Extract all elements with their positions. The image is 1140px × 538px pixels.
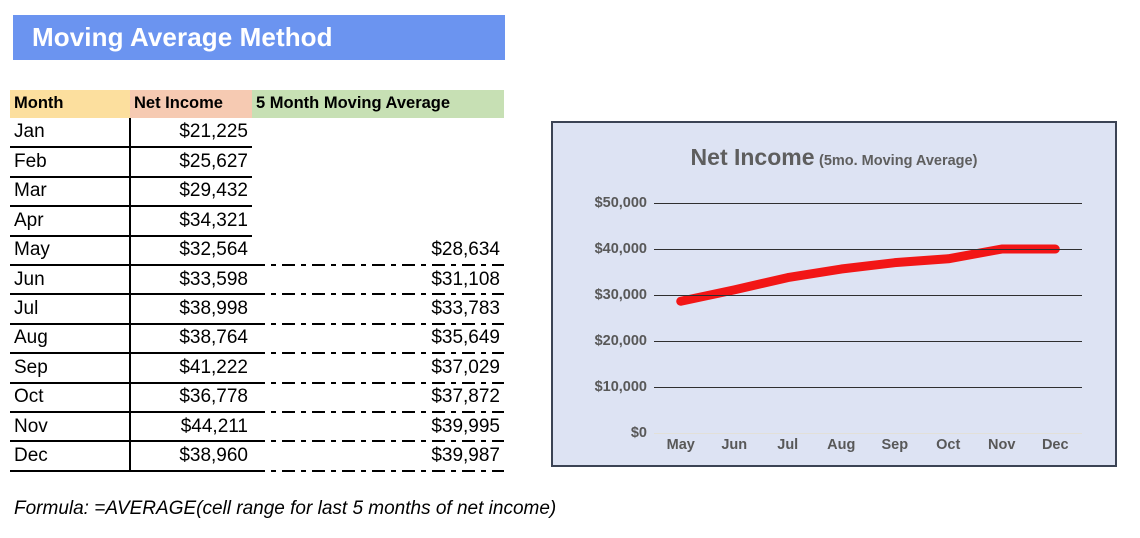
gridline [654, 341, 1082, 342]
table-body: Jan$21,225Feb$25,627Mar$29,432Apr$34,321… [10, 118, 504, 471]
cell-moving-average: $37,029 [252, 353, 504, 382]
table-row: May$32,564$28,634 [10, 236, 504, 265]
cell-month: Jan [10, 118, 130, 147]
series-polyline [681, 249, 1056, 301]
chart-title: Net Income (5mo. Moving Average) [553, 144, 1115, 171]
formula-note: Formula: =AVERAGE(cell range for last 5 … [14, 498, 556, 520]
cell-month: Feb [10, 147, 130, 176]
cell-net-income: $21,225 [130, 118, 252, 147]
cell-net-income: $41,222 [130, 353, 252, 382]
cell-net-income: $33,598 [130, 265, 252, 294]
chart-title-main: Net Income [691, 144, 815, 170]
cell-moving-average: $31,108 [252, 265, 504, 294]
table-row: Sep$41,222$37,029 [10, 353, 504, 382]
y-axis-tick-labels: $50,000$40,000$30,000$20,000$10,000$0 [553, 203, 647, 433]
cell-net-income: $29,432 [130, 177, 252, 206]
chart-title-subtitle: (5mo. Moving Average) [819, 153, 977, 169]
net-income-chart-panel: Net Income (5mo. Moving Average) $50,000… [551, 121, 1117, 467]
x-axis-tick-labels: MayJunJulAugSepOctNovDec [654, 437, 1082, 461]
x-axis-tick-label: Nov [975, 437, 1029, 461]
y-axis-tick-label: $0 [555, 425, 647, 441]
cell-month: Jul [10, 294, 130, 323]
page-title-banner: Moving Average Method [13, 15, 505, 60]
table-row: Jul$38,998$33,783 [10, 294, 504, 323]
x-axis-tick-label: Jul [761, 437, 815, 461]
x-axis-tick-label: Oct [922, 437, 976, 461]
gridline [654, 203, 1082, 204]
gridline [654, 249, 1082, 250]
gridline [654, 295, 1082, 296]
cell-net-income: $38,960 [130, 441, 252, 470]
cell-month: Sep [10, 353, 130, 382]
y-axis-tick-label: $50,000 [555, 195, 647, 211]
y-axis-tick-label: $10,000 [555, 379, 647, 395]
cell-moving-average: $35,649 [252, 324, 504, 353]
cell-net-income: $25,627 [130, 147, 252, 176]
x-axis-tick-label: May [654, 437, 708, 461]
column-header-moving-average: 5 Month Moving Average [252, 90, 504, 118]
cell-net-income: $44,211 [130, 412, 252, 441]
gridline [654, 387, 1082, 388]
cell-month: May [10, 236, 130, 265]
y-axis-tick-label: $40,000 [555, 241, 647, 257]
chart-plot-area [654, 203, 1082, 433]
cell-net-income: $36,778 [130, 383, 252, 412]
x-axis-tick-label: Dec [1029, 437, 1083, 461]
cell-moving-average [252, 206, 504, 235]
cell-moving-average: $39,995 [252, 412, 504, 441]
page-title: Moving Average Method [13, 22, 333, 53]
x-axis-tick-label: Aug [815, 437, 869, 461]
table-row: Dec$38,960$39,987 [10, 441, 504, 470]
table-row: Mar$29,432 [10, 177, 504, 206]
cell-moving-average: $33,783 [252, 294, 504, 323]
cell-moving-average: $37,872 [252, 383, 504, 412]
table-row: Jan$21,225 [10, 118, 504, 147]
cell-month: Mar [10, 177, 130, 206]
cell-month: Apr [10, 206, 130, 235]
column-header-month: Month [10, 90, 130, 118]
cell-month: Jun [10, 265, 130, 294]
table-row: Aug$38,764$35,649 [10, 324, 504, 353]
cell-moving-average [252, 177, 504, 206]
table-row: Apr$34,321 [10, 206, 504, 235]
cell-net-income: $38,764 [130, 324, 252, 353]
cell-month: Aug [10, 324, 130, 353]
x-axis-tick-label: Jun [708, 437, 762, 461]
moving-average-table: Month Net Income 5 Month Moving Average … [10, 90, 504, 472]
moving-average-line-series [654, 203, 1082, 433]
cell-moving-average: $28,634 [252, 236, 504, 265]
table-row: Nov$44,211$39,995 [10, 412, 504, 441]
cell-moving-average: $39,987 [252, 441, 504, 470]
cell-net-income: $32,564 [130, 236, 252, 265]
cell-moving-average [252, 118, 504, 147]
column-header-net-income: Net Income [130, 90, 252, 118]
table-header-row: Month Net Income 5 Month Moving Average [10, 90, 504, 118]
table-row: Oct$36,778$37,872 [10, 383, 504, 412]
gridline [654, 433, 1082, 434]
cell-net-income: $38,998 [130, 294, 252, 323]
table-row: Jun$33,598$31,108 [10, 265, 504, 294]
cell-net-income: $34,321 [130, 206, 252, 235]
cell-month: Dec [10, 441, 130, 470]
cell-moving-average [252, 147, 504, 176]
cell-month: Nov [10, 412, 130, 441]
y-axis-tick-label: $20,000 [555, 333, 647, 349]
table-row: Feb$25,627 [10, 147, 504, 176]
cell-month: Oct [10, 383, 130, 412]
x-axis-tick-label: Sep [868, 437, 922, 461]
y-axis-tick-label: $30,000 [555, 287, 647, 303]
